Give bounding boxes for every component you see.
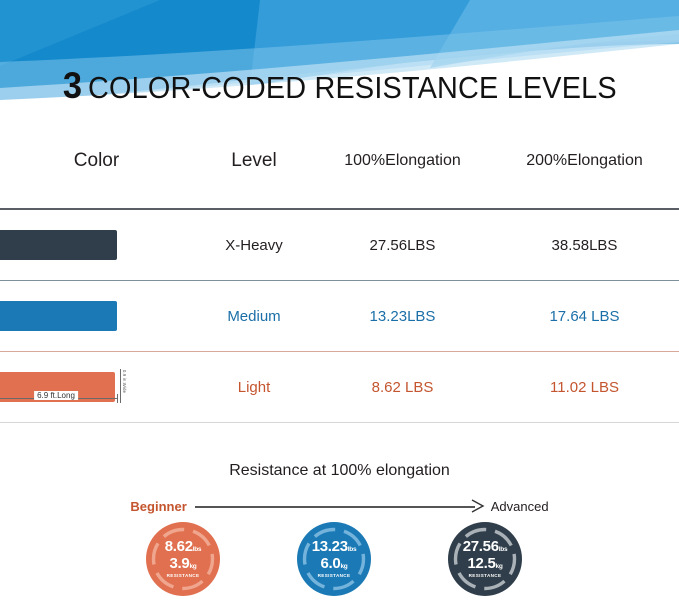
badge-kg-value: 3.9 — [170, 555, 190, 572]
resistance-scale: Resistance at 100% elongation Beginner A… — [0, 462, 679, 522]
swatch-cell — [0, 301, 193, 331]
scale-arrow-icon — [195, 499, 485, 513]
arrow-head-icon — [471, 499, 485, 513]
badge-light: 8.62lbs 3.9kg RESISTANCE — [145, 521, 221, 597]
column-header-elongation-100: 100%Elongation — [315, 152, 490, 170]
badge-kg-value: 12.5 — [468, 555, 496, 572]
swatch-cell: 0.9 in.Wide 6.9 ft.Long — [0, 372, 193, 402]
badge-caption: RESISTANCE — [469, 574, 502, 579]
elongation-100-value: 8.62 LBS — [315, 379, 490, 396]
header-banner: 3 COLOR-CODED RESISTANCE LEVELS — [0, 0, 679, 113]
badge-kg-unit: kg — [340, 563, 347, 570]
table-row: 0.9 in.Wide 6.9 ft.Long Light 8.62 LBS 1… — [0, 352, 679, 422]
swatch-cell — [0, 230, 193, 260]
scale-title: Resistance at 100% elongation — [0, 462, 679, 480]
length-dimension-label: 6.9 ft.Long — [34, 391, 78, 400]
table-header-row: Color Level 100%Elongation 200%Elongatio… — [0, 113, 679, 208]
scale-start-label: Beginner — [130, 499, 186, 514]
banner-shapes — [0, 0, 679, 113]
badge-lbs-unit: lbs — [348, 546, 357, 553]
width-dimension-label: 0.9 in.Wide — [122, 370, 127, 393]
elongation-100-value: 27.56LBS — [315, 237, 490, 254]
color-swatch-medium — [0, 301, 117, 331]
column-header-elongation-200: 200%Elongation — [490, 152, 679, 170]
elongation-200-value: 17.64 LBS — [490, 308, 679, 325]
scale-axis: Beginner Advanced — [0, 495, 679, 517]
table-row: X-Heavy 27.56LBS 38.58LBS — [0, 210, 679, 280]
badge-lbs-unit: lbs — [193, 546, 202, 553]
elongation-200-value: 11.02 LBS — [490, 379, 679, 396]
badge-caption: RESISTANCE — [167, 574, 200, 579]
badge-lbs-value: 8.62 — [165, 538, 193, 555]
badge-lbs-value: 27.56 — [463, 538, 499, 555]
scale-end-label: Advanced — [491, 499, 549, 514]
level-label: Light — [193, 379, 315, 396]
column-header-color: Color — [0, 150, 193, 172]
level-label: Medium — [193, 308, 315, 325]
level-label: X-Heavy — [193, 237, 315, 254]
badge-kg-unit: kg — [189, 563, 196, 570]
badge-caption: RESISTANCE — [318, 574, 351, 579]
elongation-100-value: 13.23LBS — [315, 308, 490, 325]
badge-kg-value: 6.0 — [321, 555, 341, 572]
column-header-level: Level — [193, 150, 315, 172]
color-swatch-x-heavy — [0, 230, 117, 260]
color-swatch-light: 0.9 in.Wide 6.9 ft.Long — [0, 372, 115, 402]
badge-kg-unit: kg — [496, 563, 503, 570]
resistance-badges: 8.62lbs 3.9kg RESISTANCE 13.23lbs 6.0kg … — [0, 521, 679, 602]
badge-lbs-value: 13.23 — [312, 538, 348, 555]
length-dimension: 6.9 ft.Long — [0, 392, 118, 404]
table-row: Medium 13.23LBS 17.64 LBS — [0, 281, 679, 351]
badge-x-heavy: 27.56lbs 12.5kg RESISTANCE — [447, 521, 523, 597]
table-divider — [0, 422, 679, 423]
resistance-table: Color Level 100%Elongation 200%Elongatio… — [0, 113, 679, 423]
badge-lbs-unit: lbs — [499, 546, 508, 553]
elongation-200-value: 38.58LBS — [490, 237, 679, 254]
badge-medium: 13.23lbs 6.0kg RESISTANCE — [296, 521, 372, 597]
